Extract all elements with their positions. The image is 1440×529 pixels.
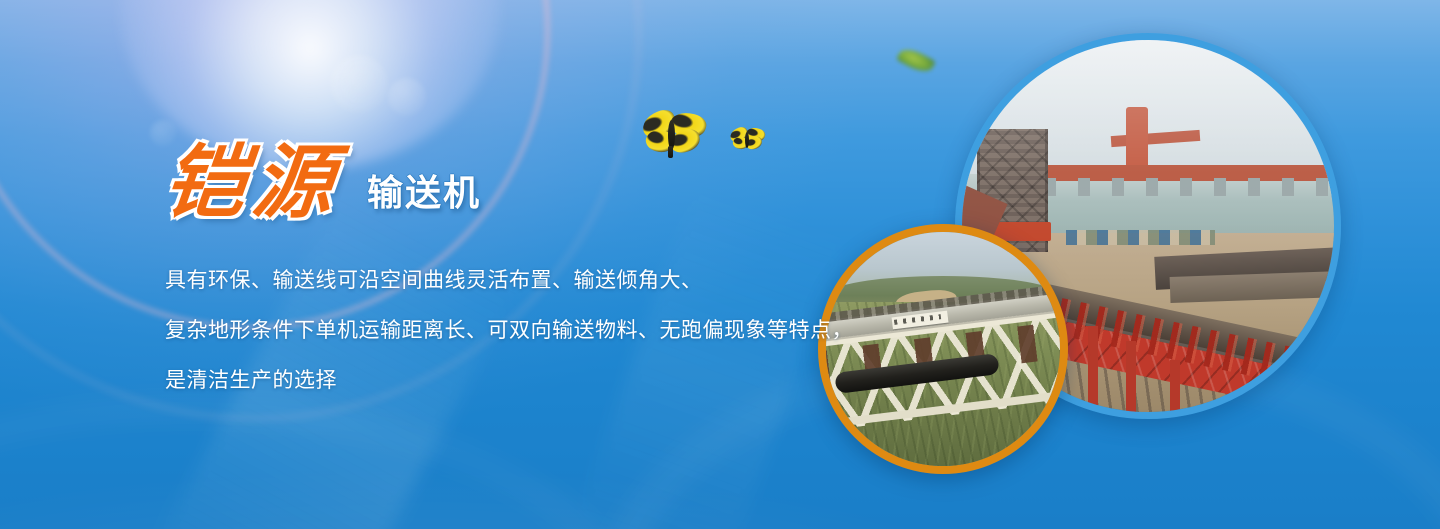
butterfly-large-icon xyxy=(640,112,710,158)
banner-description: 具有环保、输送线可沿空间曲线灵活布置、输送倾角大、 复杂地形条件下单机运输距离长… xyxy=(165,256,955,406)
butterfly-small-icon xyxy=(730,128,766,152)
bokeh-circle-icon xyxy=(388,78,426,116)
bokeh-circle-icon xyxy=(330,55,388,113)
banner-title: 铠源 输送机 xyxy=(165,143,481,223)
product-name: 输送机 xyxy=(367,164,481,216)
description-line-3: 是清洁生产的选择 xyxy=(165,356,955,406)
butterfly-body xyxy=(745,132,749,148)
description-line-1: 具有环保、输送线可沿空间曲线灵活布置、输送倾角大、 xyxy=(165,256,955,306)
butterfly-tail xyxy=(668,146,673,158)
product-banner: 铠源 输送机 具有环保、输送线可沿空间曲线灵活布置、输送倾角大、 复杂地形条件下… xyxy=(0,0,1440,529)
description-line-2: 复杂地形条件下单机运输距离长、可双向输送物料、无跑偏现象等特点， xyxy=(165,306,955,356)
brand-name: 铠源 xyxy=(161,143,345,223)
